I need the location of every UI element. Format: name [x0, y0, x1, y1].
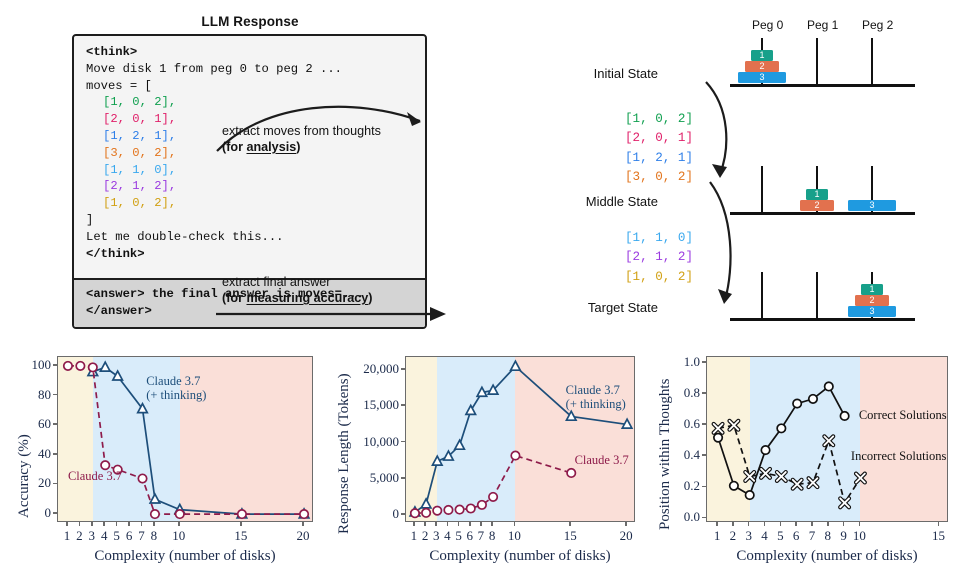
plot-area-position-within-thoughts: Correct SolutionsIncorrect Solutions — [706, 356, 948, 522]
data-point — [138, 474, 146, 482]
y-tick-label: 10,000 — [343, 434, 399, 450]
peg-rod-initial-2 — [871, 38, 874, 84]
y-tick-mark — [53, 483, 57, 485]
extracted-move-moves_group_a-3: [3, 0, 2] — [625, 168, 693, 187]
x-axis-label-response-length: Complexity (number of disks) — [405, 548, 635, 565]
data-point — [840, 412, 848, 420]
x-tick-mark — [716, 522, 718, 526]
y-tick-mark — [53, 394, 57, 396]
y-tick-mark — [53, 512, 57, 514]
x-tick-mark — [240, 522, 242, 526]
data-point — [151, 510, 159, 518]
x-tick-mark — [938, 522, 940, 526]
y-tick-label: 15,000 — [343, 397, 399, 413]
data-point — [238, 510, 246, 518]
x-tick-mark — [469, 522, 471, 526]
y-tick-mark — [702, 392, 706, 394]
extracted-move-moves_group_b-0: [1, 1, 0] — [625, 229, 693, 248]
x-tick-mark — [480, 522, 482, 526]
x-tick-mark — [91, 522, 93, 526]
disk-1-middle: 1 — [806, 189, 828, 200]
annotation-line-2: (+ thinking) — [146, 388, 206, 402]
x-tick-mark — [732, 522, 734, 526]
chart-accuracy: Claude 3.7(+ thinking)Claude 3.7 Accurac… — [0, 340, 322, 580]
y-tick-mark — [702, 517, 706, 519]
extracted-move-moves_group_a-1: [2, 0, 1] — [625, 129, 693, 148]
x-tick-mark — [859, 522, 861, 526]
think-line-9: [1, 0, 2], — [86, 195, 425, 212]
peg-rod-initial-1 — [816, 38, 819, 84]
annotation-line-1: Correct Solutions — [859, 408, 947, 422]
y-tick-label: 40 — [0, 446, 51, 462]
y-tick-mark — [702, 486, 706, 488]
data-point — [422, 509, 430, 517]
x-tick-label: 15 — [225, 528, 257, 544]
disk-2-middle: 2 — [800, 200, 834, 211]
data-point — [100, 362, 110, 371]
data-point — [809, 395, 817, 403]
data-point — [567, 469, 575, 477]
y-tick-mark — [53, 453, 57, 455]
think-line-7: [1, 1, 0], — [86, 162, 425, 179]
x-tick-mark — [795, 522, 797, 526]
think-line-1: Move disk 1 from peg 0 to peg 2 ... — [86, 61, 425, 78]
annotation-line-2: (+ thinking) — [566, 397, 626, 411]
x-tick-label: 20 — [287, 528, 319, 544]
data-point — [730, 482, 738, 490]
series-line-incorrect-solutions — [718, 425, 860, 503]
disk-3-target: 3 — [848, 306, 896, 317]
y-tick-mark — [401, 513, 405, 515]
peg-base-middle — [730, 212, 915, 215]
data-point — [714, 433, 722, 441]
extract-answer-caption-line1: extract final answer — [222, 275, 331, 289]
extracted-move-moves_group_b-2: [1, 0, 2] — [625, 268, 693, 287]
x-tick-mark — [491, 522, 493, 526]
x-tick-mark — [79, 522, 81, 526]
data-point — [300, 510, 308, 518]
x-tick-mark — [764, 522, 766, 526]
disk-2-target: 2 — [855, 295, 889, 306]
chart-position-within-thoughts: Correct SolutionsIncorrect Solutions Pos… — [644, 340, 965, 580]
peg-rod-middle-0 — [761, 166, 764, 212]
y-tick-mark — [401, 477, 405, 479]
think-line-11: Let me double-check this... — [86, 229, 425, 246]
disk-1-initial: 1 — [751, 50, 773, 61]
extracted-move-moves_group_a-0: [1, 0, 2] — [625, 110, 693, 129]
y-tick-label: 80 — [0, 387, 51, 403]
x-tick-label: 10 — [163, 528, 195, 544]
plot-area-accuracy: Claude 3.7(+ thinking)Claude 3.7 — [57, 356, 313, 522]
y-tick-mark — [53, 423, 57, 425]
x-tick-mark — [424, 522, 426, 526]
series-annotation-claude-3-7-0: Claude 3.7(+ thinking) — [146, 374, 206, 402]
disk-3-initial: 3 — [738, 72, 786, 83]
y-tick-label: 0.6 — [644, 416, 700, 432]
data-point — [455, 505, 463, 513]
paren-close-2: ) — [368, 291, 372, 305]
moves-to-states-arrows — [700, 78, 762, 328]
y-tick-label: 100 — [0, 357, 51, 373]
x-tick-mark — [625, 522, 627, 526]
x-tick-label: 10 — [498, 528, 530, 544]
extract-answer-caption-line2: (for measuring accuracy) — [222, 291, 373, 305]
x-tick-mark — [458, 522, 460, 526]
peg-rod-target-1 — [816, 272, 819, 318]
peg-label-1: Peg 1 — [807, 18, 838, 32]
x-axis-label-accuracy: Complexity (number of disks) — [57, 548, 313, 565]
state-label-initial: Initial State — [558, 66, 658, 81]
y-tick-label: 1.0 — [644, 354, 700, 370]
data-point — [455, 440, 465, 449]
series-annotation-correct-solutions-0: Correct Solutions — [859, 408, 947, 422]
y-tick-mark — [401, 441, 405, 443]
data-point — [825, 382, 833, 390]
y-tick-label: 20 — [0, 475, 51, 491]
x-tick-label: 20 — [610, 528, 642, 544]
data-point — [89, 363, 97, 371]
extracted-move-moves_group_a-2: [1, 2, 1] — [625, 149, 693, 168]
extracted-moves-group-a: [1, 0, 2][2, 0, 1][1, 2, 1][3, 0, 2] — [625, 110, 693, 188]
data-point — [478, 501, 486, 509]
annotation-line-1: Claude 3.7 — [566, 383, 626, 397]
peg-label-2: Peg 2 — [862, 18, 893, 32]
data-point — [746, 491, 754, 499]
y-tick-label: 0.4 — [644, 447, 700, 463]
think-line-12: </think> — [86, 246, 425, 263]
disk-2-initial: 2 — [745, 61, 779, 72]
extract-moves-caption-line1: extract moves from thoughts — [222, 124, 381, 138]
x-tick-mark — [178, 522, 180, 526]
think-line-8: [2, 1, 2], — [86, 178, 425, 195]
series-annotation-incorrect-solutions-1: Incorrect Solutions — [851, 449, 946, 463]
think-line-0: <think> — [86, 44, 425, 61]
annotation-line-1: Claude 3.7 — [575, 453, 629, 467]
y-tick-label: 20,000 — [343, 361, 399, 377]
data-point — [489, 493, 497, 501]
y-tick-label: 0 — [343, 506, 399, 522]
analysis-emphasis: analysis — [246, 140, 296, 154]
x-tick-mark — [116, 522, 118, 526]
series-annotation-claude-3-7-1: Claude 3.7 — [575, 453, 629, 467]
data-point — [76, 362, 84, 370]
measuring-accuracy-emphasis: measuring accuracy — [246, 291, 368, 305]
series-annotation-claude-3-7-0: Claude 3.7(+ thinking) — [566, 383, 626, 411]
paren-open-2: (for — [222, 291, 246, 305]
x-tick-mark — [811, 522, 813, 526]
x-tick-mark — [843, 522, 845, 526]
x-tick-mark — [748, 522, 750, 526]
series-layer — [707, 357, 948, 522]
x-tick-mark — [447, 522, 449, 526]
x-tick-label: 15 — [923, 528, 955, 544]
y-tick-mark — [53, 364, 57, 366]
data-point — [511, 451, 519, 459]
peg-rod-target-0 — [761, 272, 764, 318]
paren-open: (for — [222, 140, 246, 154]
x-tick-mark — [514, 522, 516, 526]
data-point — [150, 494, 160, 503]
plot-area-response-length: Claude 3.7(+ thinking)Claude 3.7 — [405, 356, 635, 522]
disk-3-middle: 3 — [848, 200, 896, 211]
peg-base-initial — [730, 84, 915, 87]
data-point — [444, 506, 452, 514]
y-tick-label: 0 — [0, 505, 51, 521]
y-tick-label: 0.2 — [644, 478, 700, 494]
data-point — [176, 510, 184, 518]
x-tick-label: 10 — [843, 528, 875, 544]
data-point — [411, 509, 419, 517]
x-tick-mark — [141, 522, 143, 526]
x-tick-mark — [302, 522, 304, 526]
annotation-line-1: Claude 3.7 — [68, 469, 122, 483]
peg-label-0: Peg 0 — [752, 18, 783, 32]
paren-close: ) — [296, 140, 300, 154]
data-point — [433, 506, 441, 514]
x-tick-mark — [103, 522, 105, 526]
extract-answer-arrow — [214, 305, 454, 323]
x-tick-mark — [569, 522, 571, 526]
chart-response-length: Claude 3.7(+ thinking)Claude 3.7 Respons… — [322, 340, 644, 580]
data-point — [856, 474, 865, 483]
think-line-2: moves = [ — [86, 78, 425, 95]
x-tick-label: 15 — [554, 528, 586, 544]
data-point — [761, 446, 769, 454]
llm-response-title: LLM Response — [70, 14, 430, 29]
data-point — [64, 362, 72, 370]
x-tick-mark — [413, 522, 415, 526]
data-point — [421, 499, 431, 508]
data-point — [467, 504, 475, 512]
think-line-10: ] — [86, 212, 425, 229]
y-tick-mark — [702, 361, 706, 363]
data-point — [793, 399, 801, 407]
state-label-middle: Middle State — [558, 194, 658, 209]
x-tick-mark — [780, 522, 782, 526]
y-tick-label: 60 — [0, 416, 51, 432]
data-point — [777, 424, 785, 432]
y-tick-mark — [401, 404, 405, 406]
data-point — [477, 387, 487, 396]
peg-base-target — [730, 318, 915, 321]
y-tick-mark — [702, 423, 706, 425]
extract-moves-caption-line2: (for analysis) — [222, 140, 300, 154]
x-tick-mark — [66, 522, 68, 526]
annotation-line-1: Claude 3.7 — [146, 374, 206, 388]
x-tick-mark — [153, 522, 155, 526]
series-annotation-claude-3-7-1: Claude 3.7 — [68, 469, 122, 483]
annotation-line-1: Incorrect Solutions — [851, 449, 946, 463]
extracted-moves-group-b: [1, 1, 0][2, 1, 2][1, 0, 2] — [625, 229, 693, 287]
y-tick-mark — [401, 368, 405, 370]
y-tick-label: 0.0 — [644, 509, 700, 525]
data-point — [777, 472, 786, 481]
x-tick-mark — [435, 522, 437, 526]
state-label-target: Target State — [558, 300, 658, 315]
data-point — [113, 371, 123, 380]
data-point — [511, 361, 521, 370]
x-tick-mark — [128, 522, 130, 526]
pipeline-diagram: LLM Response <think>Move disk 1 from peg… — [0, 0, 965, 340]
x-axis-label-position: Complexity (number of disks) — [706, 548, 948, 565]
disk-1-target: 1 — [861, 284, 883, 295]
y-tick-label: 5,000 — [343, 470, 399, 486]
extracted-move-moves_group_b-1: [2, 1, 2] — [625, 248, 693, 267]
y-tick-label: 0.8 — [644, 385, 700, 401]
x-tick-mark — [827, 522, 829, 526]
y-tick-mark — [702, 454, 706, 456]
data-point — [622, 419, 632, 428]
data-point — [432, 456, 442, 465]
